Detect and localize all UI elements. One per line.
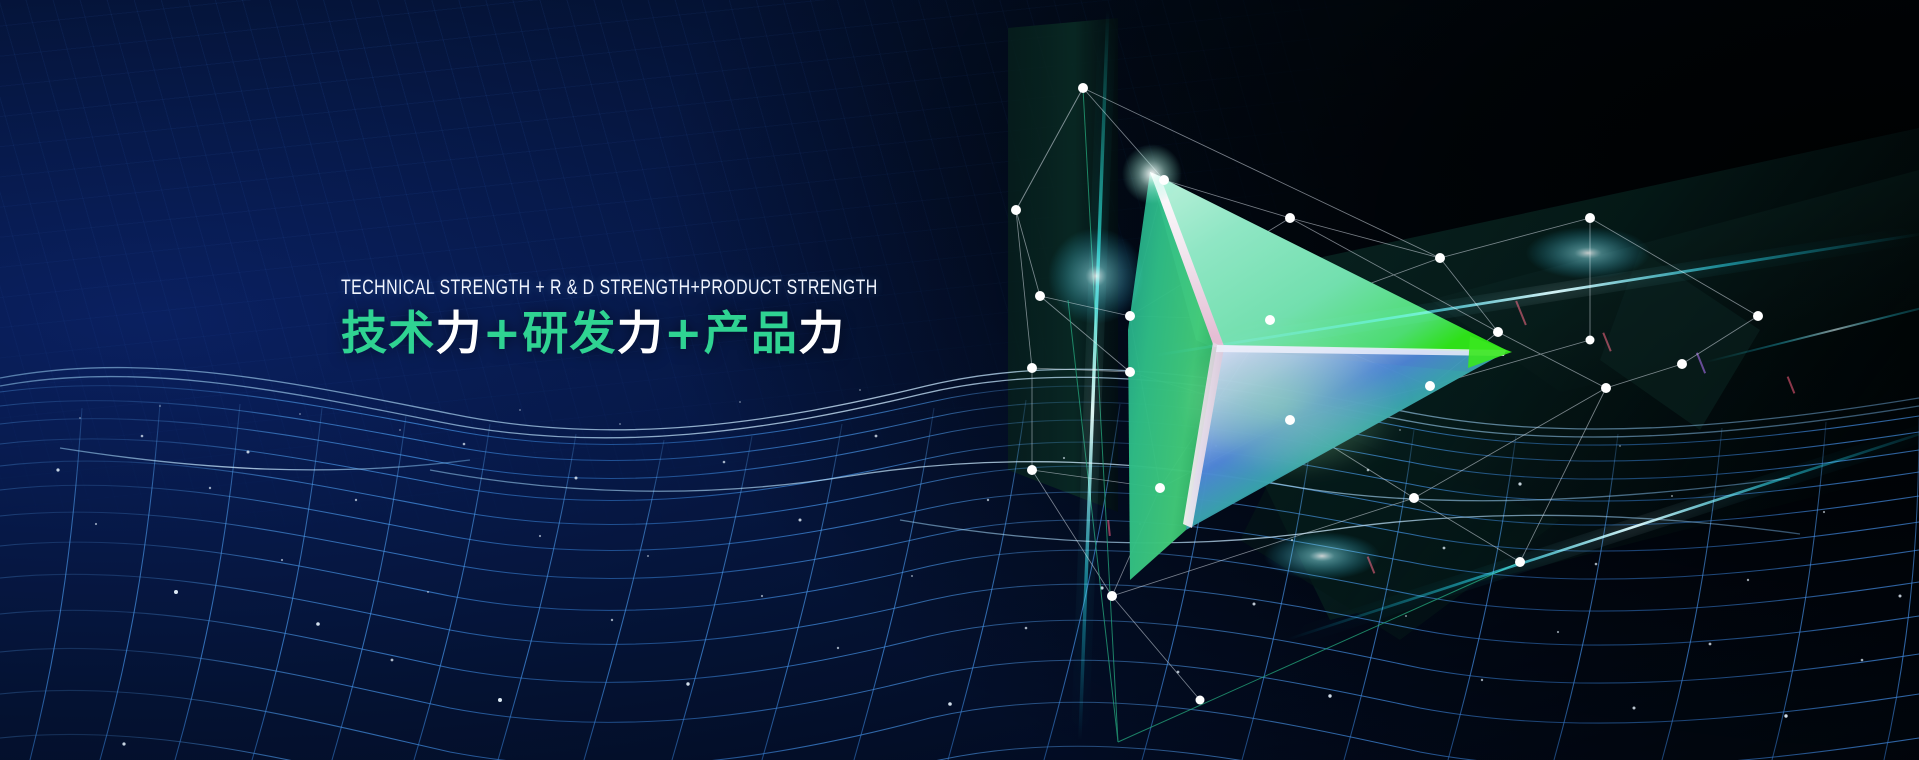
headline-seg-power-2: 力 <box>617 306 664 360</box>
headline-seg-power-1: 力 <box>435 306 482 360</box>
light-streaks <box>0 0 1919 760</box>
hero-banner: TECHNICAL STRENGTH + R & D STRENGTH+PROD… <box>0 0 1919 760</box>
prism-body <box>1122 144 1512 580</box>
background-geometric-slabs <box>0 0 1919 760</box>
network-nodes <box>1011 83 1763 705</box>
headline-seg-product: 产品 <box>704 306 798 360</box>
wireframe-terrain-mesh <box>0 0 1919 760</box>
hero-text-block: TECHNICAL STRENGTH + R & D STRENGTH+PROD… <box>341 277 1061 359</box>
network-links <box>1016 88 1758 700</box>
headline-seg-rnd: 研发 <box>522 306 616 360</box>
headline-plus-1: + <box>483 306 523 360</box>
tagline-english: TECHNICAL STRENGTH + R & D STRENGTH+PROD… <box>341 277 874 299</box>
headline-seg-technical: 技术 <box>341 306 435 360</box>
background-perspective-grid <box>0 0 1919 760</box>
background-gradient <box>0 0 1919 760</box>
headline-plus-2: + <box>664 306 704 360</box>
particle-dots <box>0 0 1919 760</box>
headline-seg-power-3: 力 <box>798 306 845 360</box>
headline-chinese: 技术力+研发力+产品力 <box>341 308 1061 360</box>
background-dark-right-mass <box>0 0 1919 760</box>
arrow-prism-graphic <box>0 0 1919 760</box>
